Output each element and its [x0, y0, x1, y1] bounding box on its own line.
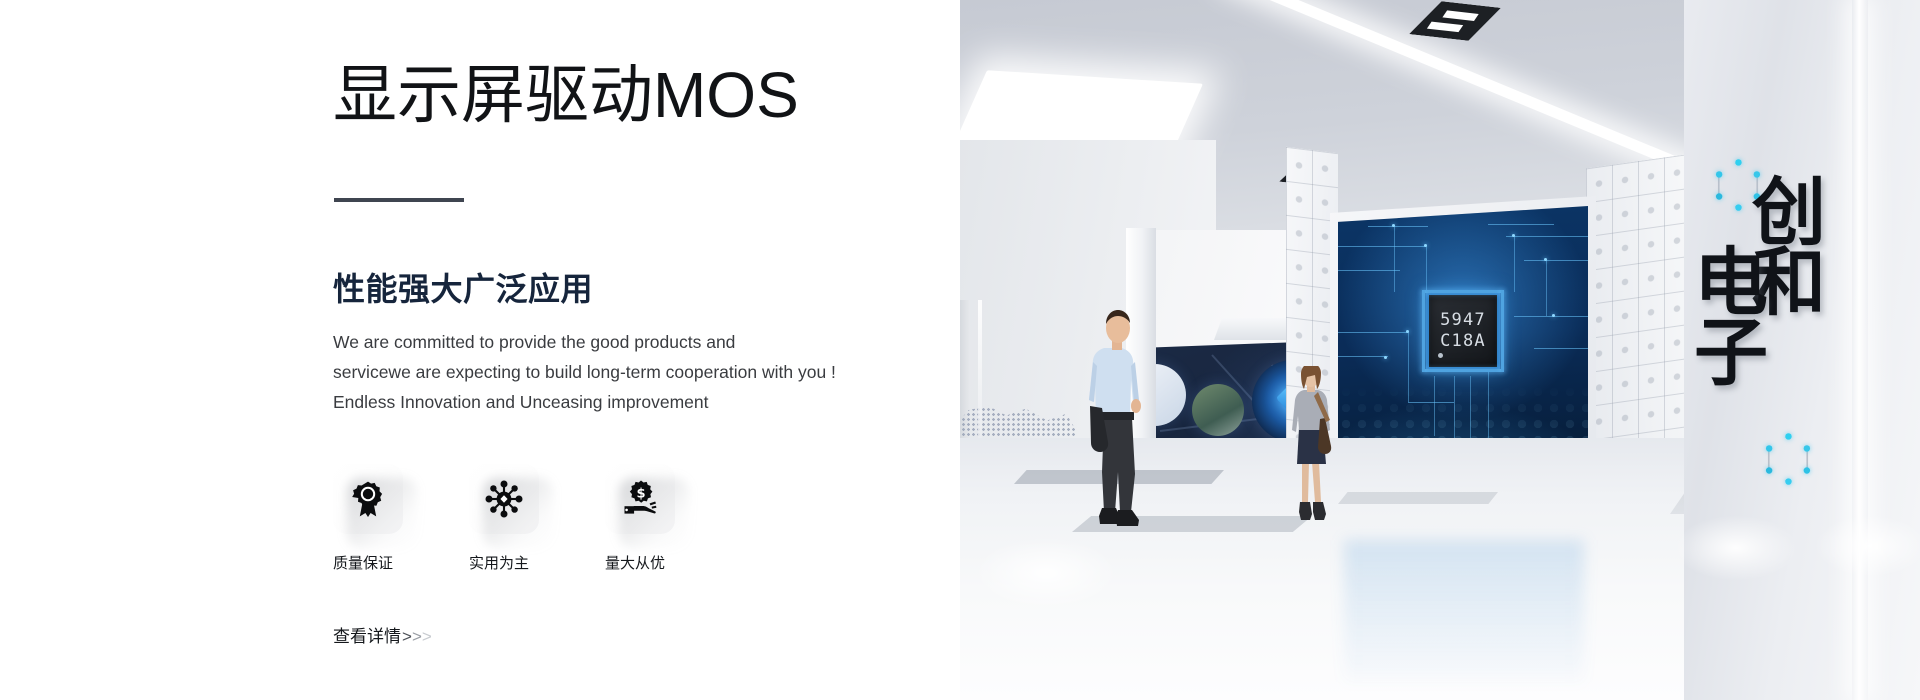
feature-item-quality[interactable]: 质量保证: [333, 464, 411, 571]
signage-char: 创: [1752, 178, 1826, 248]
banner-description: We are committed to provide the good pro…: [333, 327, 873, 417]
showroom-interior-photo: 展示大厅 EXHIBITION HALL 智能制造生产基地 核心芯片封装技术 专…: [956, 0, 1920, 700]
feature-list: 质量保证: [333, 464, 683, 571]
product-hero-banner: 显示屏驱动MOS 性能强大广泛应用 We are committed to pr…: [0, 0, 1920, 700]
chevron-right-icon-2: >: [412, 627, 422, 647]
feature-item-bulk-discount[interactable]: $ 量大从优: [605, 464, 683, 571]
banner-subtitle: 性能强大广泛应用: [333, 264, 593, 310]
person-businesswoman: [1280, 366, 1342, 526]
money-in-hand-icon: $: [620, 479, 660, 519]
title-divider: [334, 198, 464, 202]
signage-column-left: 电 子: [1694, 248, 1768, 387]
company-name-signage: 创 和 电 子: [1694, 176, 1834, 466]
signage-char: 子: [1694, 318, 1768, 388]
description-line-2: servicewe are expecting to build long-te…: [333, 357, 873, 387]
chip-label-line-2: C18A: [1440, 331, 1486, 352]
floor-light-reflection: [1816, 516, 1920, 576]
banner-text-panel: 显示屏驱动MOS 性能强大广泛应用 We are committed to pr…: [0, 0, 960, 700]
chip-label-line-1: 5947: [1440, 310, 1486, 331]
description-line-1: We are committed to provide the good pro…: [333, 327, 873, 357]
chip-graphic: 5947 C18A: [1426, 292, 1500, 370]
person-businessman: [1068, 310, 1164, 530]
view-details-label: 查看详情: [333, 622, 401, 647]
chevron-right-icon-1: >: [402, 627, 412, 647]
chevron-right-icon-3: >: [422, 627, 432, 647]
chip-orientation-dot-icon: [1438, 353, 1443, 358]
floor-inlay-strip: [1338, 492, 1498, 504]
feature-tile: $: [605, 464, 675, 534]
svg-text:$: $: [636, 486, 645, 501]
exhibit-photo-bubble: [1192, 384, 1244, 436]
hexagon-molecule-icon: [1768, 436, 1808, 482]
description-line-3: Endless Innovation and Unceasing improve…: [333, 387, 873, 417]
wall-light-strip: [1852, 0, 1868, 700]
screen-floor-reflection: [1344, 540, 1584, 682]
feature-tile: [333, 464, 403, 534]
view-details-link[interactable]: 查看详情 > > >: [333, 622, 432, 647]
award-medal-icon: [348, 479, 388, 519]
floor-light-reflection: [976, 538, 1116, 608]
floor-light-reflection: [1676, 516, 1796, 580]
network-hub-icon: [484, 479, 524, 519]
feature-label: 质量保证: [333, 556, 411, 571]
page-title: 显示屏驱动MOS: [333, 63, 799, 127]
feature-tile: [469, 464, 539, 534]
feature-label: 实用为主: [469, 556, 547, 571]
feature-item-practical[interactable]: 实用为主: [469, 464, 547, 571]
signage-char: 电: [1694, 248, 1768, 318]
feature-label: 量大从优: [605, 556, 683, 571]
signage-wall: 创 和 电 子: [1684, 0, 1920, 700]
